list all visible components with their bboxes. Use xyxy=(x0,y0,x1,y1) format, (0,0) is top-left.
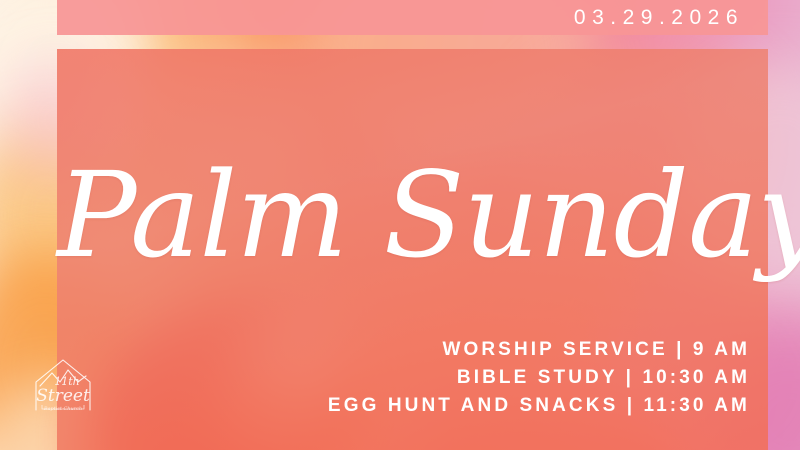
page-title: Palm Sunday xyxy=(57,140,768,290)
schedule-list: WORSHIP SERVICE | 9 AM BIBLE STUDY | 10:… xyxy=(328,336,750,420)
svg-text:Street: Street xyxy=(36,386,90,406)
date-bar: 03.29.2026 xyxy=(57,0,768,35)
schedule-item: EGG HUNT AND SNACKS | 11:30 AM xyxy=(328,392,750,420)
logo-mountain-icon: 11th Street Baptist Church xyxy=(20,356,106,418)
palm-sunday-flyer: 03.29.2026 Palm Sunday WORSHIP SERVICE |… xyxy=(0,0,800,450)
schedule-item: WORSHIP SERVICE | 9 AM xyxy=(328,336,750,364)
church-logo: 11th Street Baptist Church xyxy=(20,356,106,418)
schedule-item: BIBLE STUDY | 10:30 AM xyxy=(328,364,750,392)
event-date: 03.29.2026 xyxy=(574,0,744,35)
